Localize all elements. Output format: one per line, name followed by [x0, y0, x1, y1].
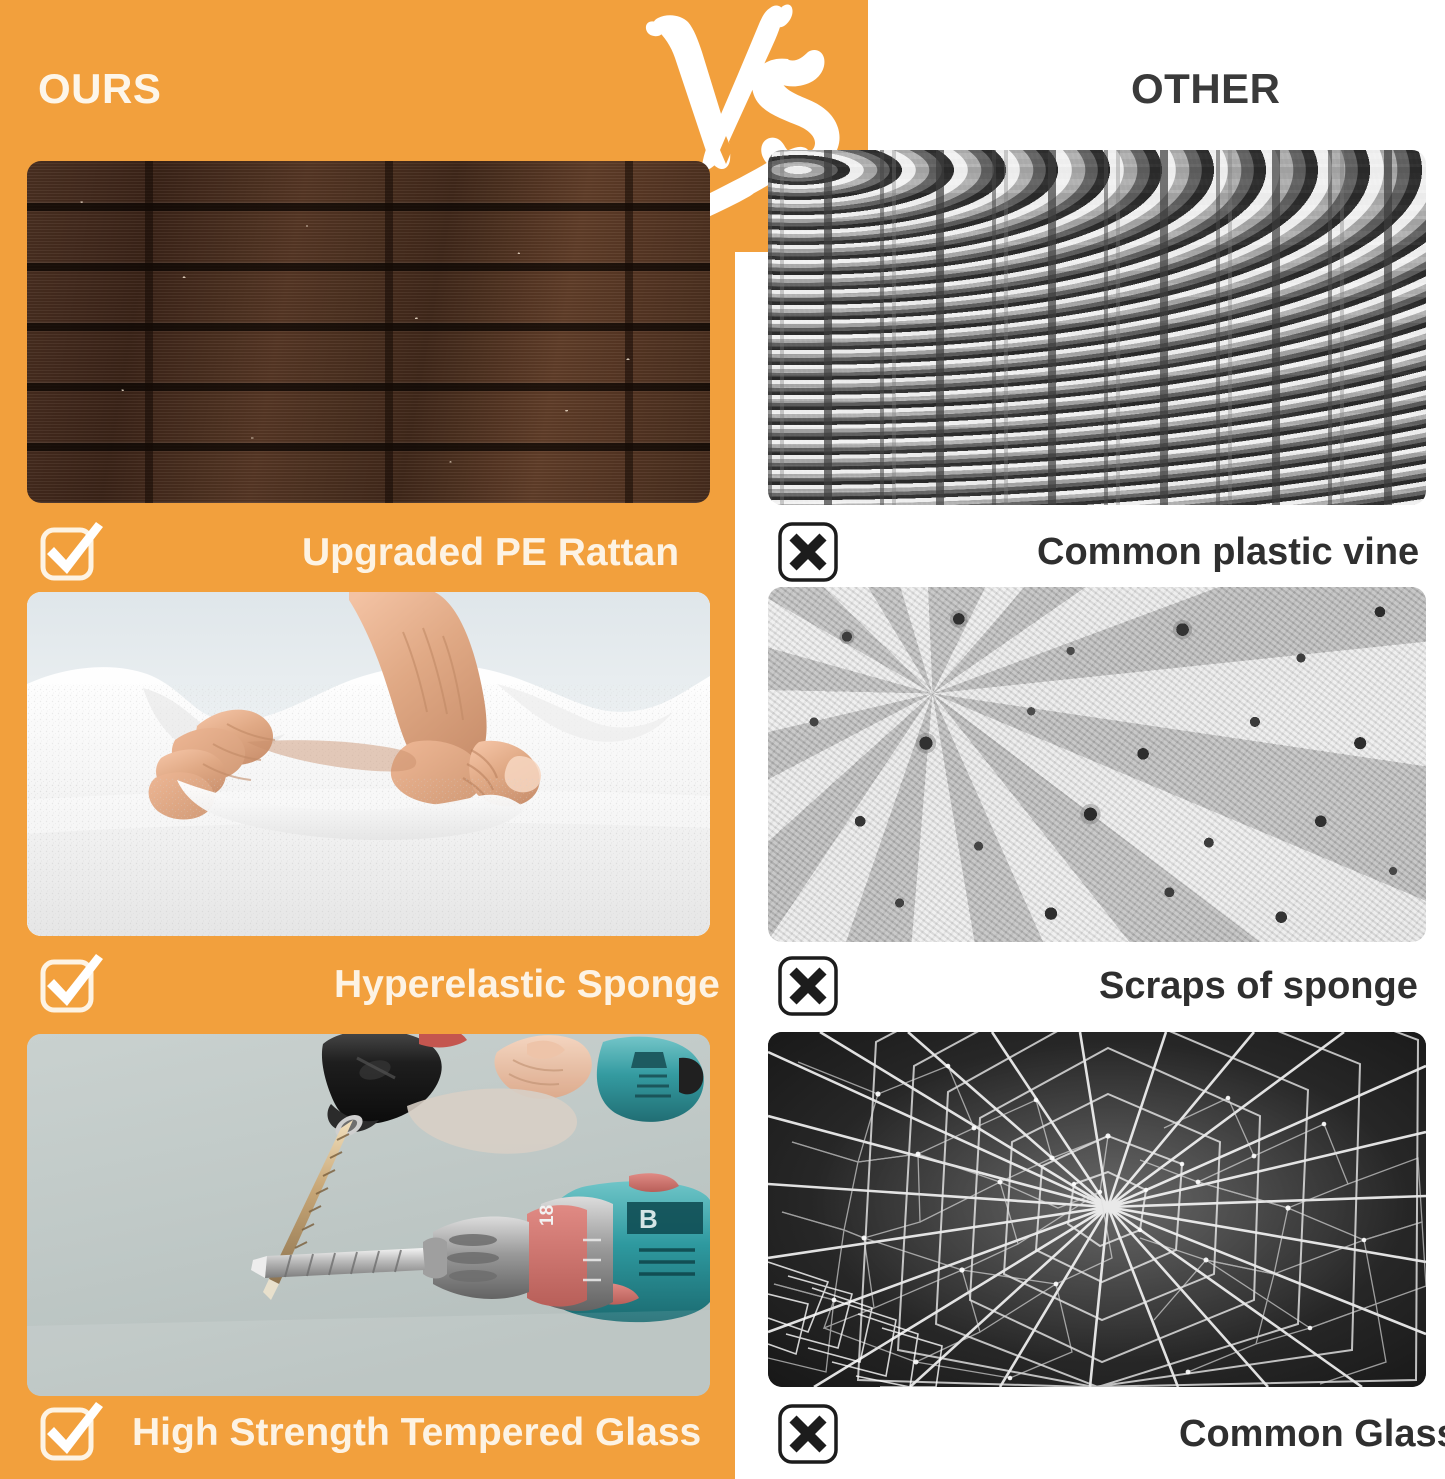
comparison-infographic: OURS OTHER [0, 0, 1445, 1479]
cross-mark-icon [775, 1401, 841, 1467]
other-porous-sponge-image [768, 587, 1426, 942]
ours-caption-row-1: Upgraded PE Rattan [34, 516, 714, 588]
cross-mark-icon [775, 953, 841, 1019]
check-mark-icon [34, 1396, 106, 1468]
ours-heading: OURS [38, 68, 161, 110]
other-heading: OTHER [1131, 68, 1281, 110]
other-wicker-image [768, 150, 1426, 505]
cross-mark-icon [775, 519, 841, 585]
other-caption-label-1: Common plastic vine [1037, 533, 1419, 571]
svg-text:18: 18 [537, 1205, 558, 1226]
ours-caption-label-2: Hyperelastic Sponge [334, 965, 720, 1004]
ours-rattan-image [27, 161, 710, 503]
other-caption-row-3: Common Glass [775, 1398, 1425, 1470]
ours-tempered-glass-drill-image: B 18 [27, 1034, 710, 1396]
other-caption-row-1: Common plastic vine [775, 516, 1425, 588]
svg-text:B: B [639, 1204, 658, 1234]
ours-foam-image [27, 592, 710, 936]
ours-caption-row-2: Hyperelastic Sponge [34, 948, 714, 1020]
other-caption-row-2: Scraps of sponge [775, 950, 1425, 1022]
other-shattered-glass-image [768, 1032, 1426, 1387]
ours-caption-label-1: Upgraded PE Rattan [302, 533, 679, 572]
ours-caption-label-3: High Strength Tempered Glass [132, 1413, 701, 1452]
other-caption-label-3: Common Glass [1179, 1415, 1445, 1453]
check-mark-icon [34, 516, 106, 588]
ours-caption-row-3: High Strength Tempered Glass [34, 1396, 724, 1468]
other-caption-label-2: Scraps of sponge [1099, 967, 1418, 1005]
check-mark-icon [34, 948, 106, 1020]
